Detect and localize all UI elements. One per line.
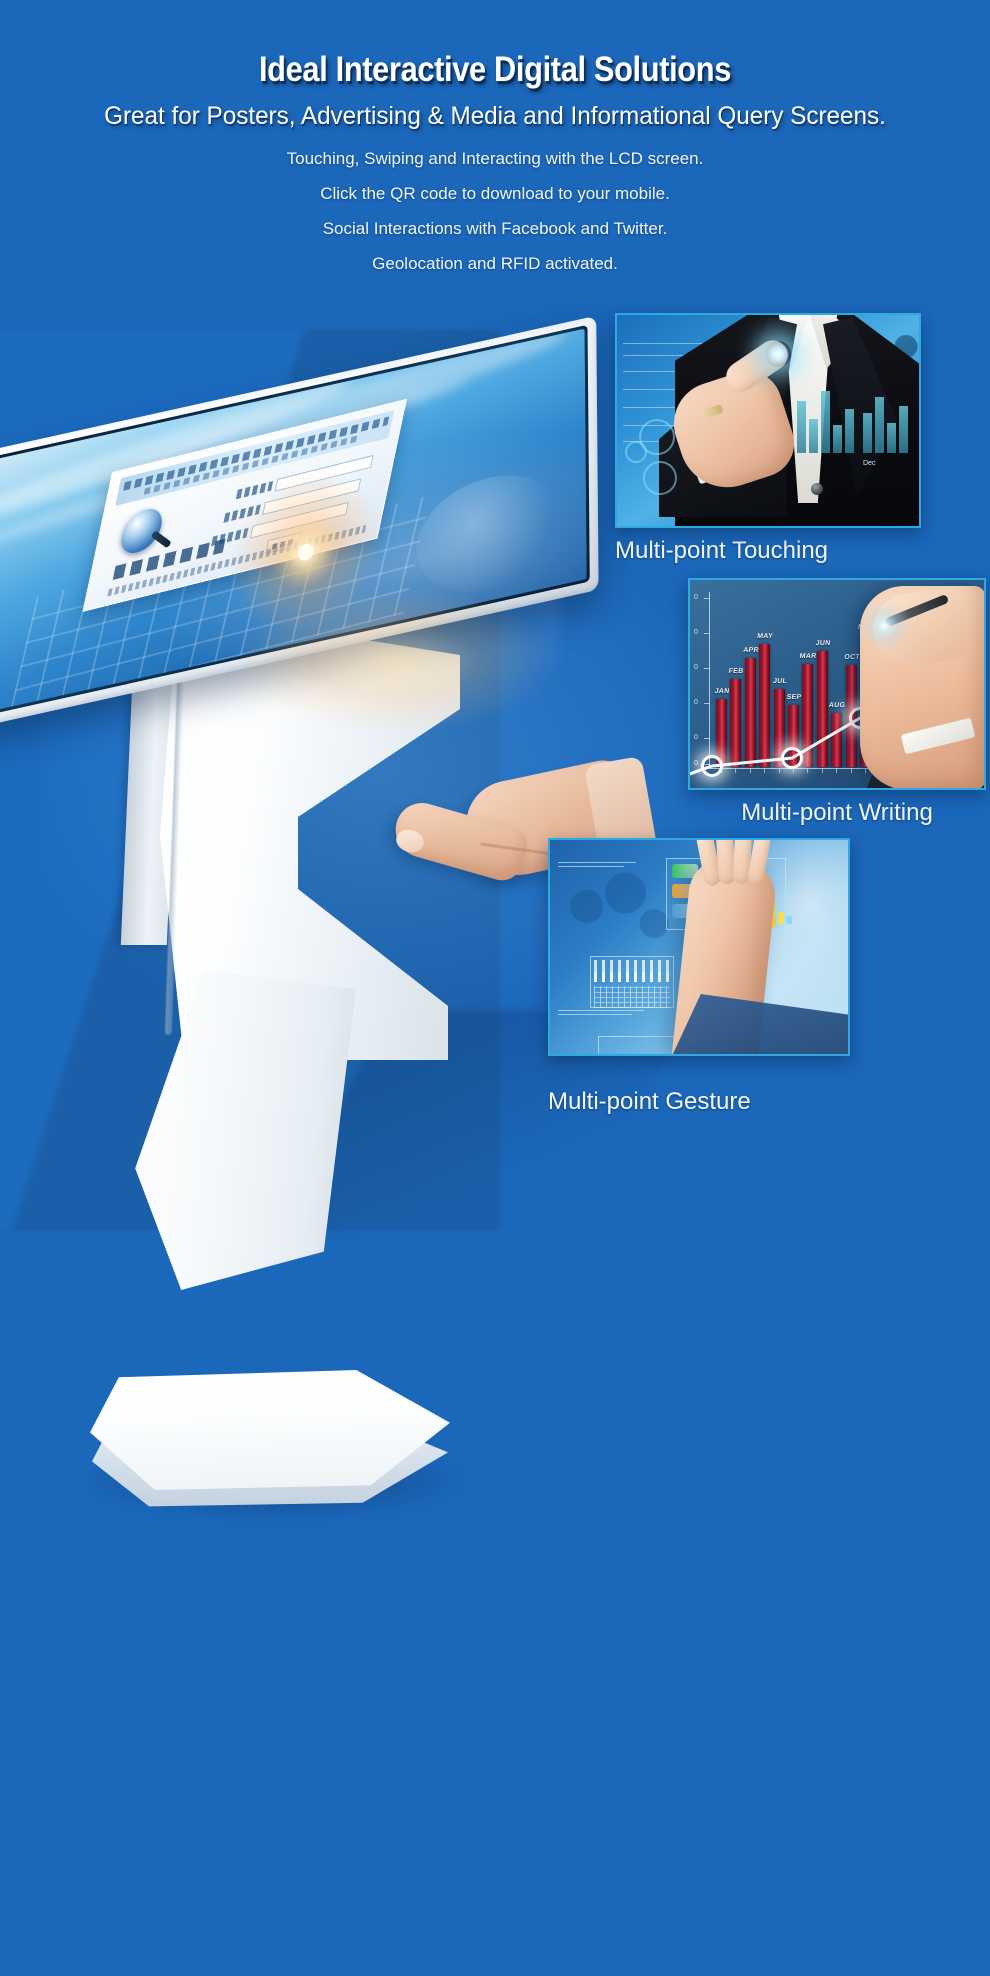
chart-x-tick: [735, 768, 736, 773]
hud-data-table: [594, 986, 670, 1008]
bar-jun: JUN: [817, 651, 828, 767]
query-field-row-1[interactable]: [235, 489, 238, 502]
bullet-item-4: Geolocation and RFID activated.: [0, 255, 990, 290]
caption-multi-point-gesture: Multi-point Gesture: [548, 1056, 850, 1114]
hud-line-2: [558, 866, 624, 867]
y-tick-label: 0: [694, 760, 698, 767]
fingertip-glow: [765, 341, 791, 367]
feature-multi-point-gesture[interactable]: ✦ ✦ ↖ ↖ → ↑ Multi-point Gesture: [548, 838, 850, 1114]
hud-circle-3: [625, 441, 647, 463]
hud-people-icons-row2: [594, 972, 670, 982]
hud-line-1: [558, 862, 636, 863]
feature-multi-point-touching[interactable]: Nov Dec Multi-point Touching: [615, 313, 921, 563]
chart-x-tick: [865, 768, 866, 773]
bullet-item-1: Touching, Swiping and Interacting with t…: [0, 150, 990, 185]
bullet-item-2: Click the QR code to download to your mo…: [0, 185, 990, 220]
bar-aug: AUG: [831, 713, 842, 767]
hud-line-4: [558, 1014, 632, 1015]
jacket-button: [811, 483, 823, 495]
multi-point-touching-image[interactable]: Nov Dec: [615, 313, 921, 528]
y-tick-label: 0: [694, 594, 698, 601]
chart-y-axis: [709, 592, 710, 768]
y-tick-label: 0: [694, 699, 698, 706]
hud-line-3: [558, 1010, 644, 1011]
trend-node-mar: [781, 747, 803, 769]
chart-x-tick: [836, 768, 837, 773]
screen-globe-graphic: [416, 462, 563, 607]
kiosk-column-lower: [126, 970, 356, 1290]
feature-bullet-list: Touching, Swiping and Interacting with t…: [0, 131, 990, 290]
header-block: Ideal Interactive Digital Solutions Grea…: [0, 0, 990, 290]
query-field-row-2[interactable]: [223, 512, 226, 525]
chart-x-tick: [851, 768, 852, 773]
chart-x-tick: [779, 768, 780, 773]
interactive-touch-kiosk: [0, 370, 620, 1170]
chart-x-tick: [764, 768, 765, 773]
trend-node-jan: [701, 755, 723, 777]
multi-point-writing-image[interactable]: 0 0 0 0 0 0 JAN FEB APR MAY JUL SEP MAR …: [688, 578, 986, 790]
page-title: Ideal Interactive Digital Solutions: [59, 0, 930, 89]
bar-mar: MAR: [802, 664, 813, 767]
query-field-label-2: [223, 504, 260, 522]
y-tick-label: 0: [694, 629, 698, 636]
bar-apr: APR: [745, 658, 756, 767]
query-field-label-1: [236, 481, 273, 499]
stylus-tip-spark: [858, 600, 910, 652]
y-tick-label: 0: [694, 734, 698, 741]
magnifier-icon: [117, 501, 180, 559]
multi-point-gesture-image[interactable]: [548, 838, 850, 1056]
hud-circle-2: [643, 461, 677, 495]
bullet-item-3: Social Interactions with Facebook and Tw…: [0, 220, 990, 255]
overlay-bar-chart: Nov Dec: [795, 385, 915, 467]
overlay-chart-label-dec: Dec: [863, 460, 875, 467]
kiosk-touchscreen[interactable]: [0, 329, 587, 713]
feature-multi-point-writing[interactable]: 0 0 0 0 0 0 JAN FEB APR MAY JUL SEP MAR …: [688, 578, 986, 825]
bar-may: MAY: [759, 644, 770, 767]
caption-multi-point-writing: Multi-point Writing: [688, 790, 986, 825]
chart-x-tick: [807, 768, 808, 773]
bar-feb: FEB: [730, 679, 741, 767]
magnifier-lens: [117, 505, 165, 558]
chart-x-tick: [750, 768, 751, 773]
chart-x-tick: [822, 768, 823, 773]
page-subtitle: Great for Posters, Advertising & Media a…: [15, 89, 975, 131]
caption-multi-point-touching: Multi-point Touching: [615, 528, 921, 563]
y-tick-label: 0: [694, 664, 698, 671]
overlay-chart-label-nov: Nov: [797, 460, 809, 467]
